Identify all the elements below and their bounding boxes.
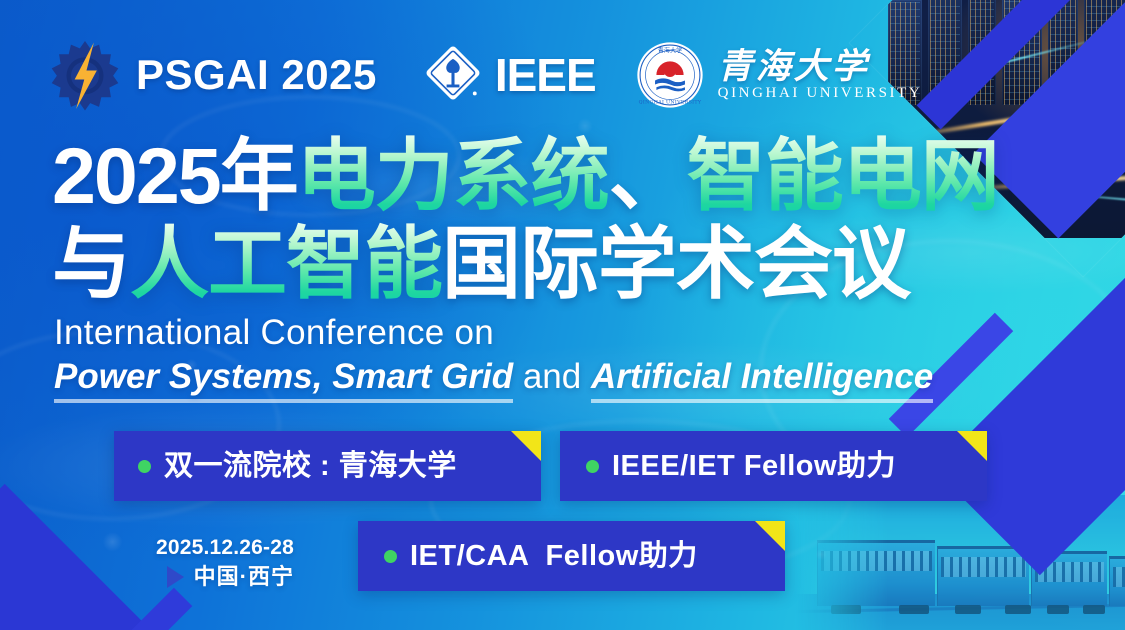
subtitle-line-2: Power Systems, Smart Grid and Artificial… [54, 354, 933, 400]
main-title-cn: 2025年电力系统、智能电网 与人工智能国际学术会议 [52, 132, 999, 308]
event-dates: 2025.12.26-28 [118, 534, 294, 562]
conference-banner: PSGAI 2025 IEEE [0, 0, 1125, 630]
title-seg: 2025年 [52, 131, 297, 220]
title-line-1: 2025年电力系统、智能电网 [52, 132, 999, 220]
bullet-dot-icon [138, 460, 151, 473]
subtitle-artificial-intelligence: Artificial Intelligence [591, 357, 933, 403]
corner-triangle-icon [511, 431, 541, 461]
subtitle-smart-grid: Smart Grid [332, 357, 513, 403]
badge-label: IET/CAA Fellow助力 [410, 542, 698, 571]
badge-label: 双一流院校 : 青海大学 [164, 452, 457, 481]
triangle-marker-icon [167, 566, 184, 588]
gear-lightning-icon [48, 38, 122, 112]
title-seg: 智能电网 [687, 131, 999, 220]
feature-badge-iet-caa-fellow[interactable]: IET/CAA Fellow助力 [358, 521, 785, 591]
corner-triangle-icon [957, 431, 987, 461]
qinghai-university-logo: 青海大学 QINGHAI UNIVERSITY 青海大学 QINGHAI UNI… [636, 41, 923, 109]
bullet-dot-icon [586, 460, 599, 473]
subtitle-and: and [513, 357, 591, 396]
event-date-location: 2025.12.26-28 中国·西宁 [118, 534, 294, 590]
feature-badge-university[interactable]: 双一流院校 : 青海大学 [114, 431, 541, 501]
ieee-logo: IEEE [421, 41, 596, 110]
psgai-logo: PSGAI 2025 [48, 38, 377, 112]
subtitle-en: International Conference on Power System… [54, 312, 933, 400]
title-seg: 电力系统 [297, 131, 609, 220]
title-seg: 国际学术会议 [442, 219, 910, 308]
subtitle-power-systems: Power Systems, [54, 357, 332, 403]
title-line-2: 与人工智能国际学术会议 [52, 220, 999, 308]
qinghai-name-en: QINGHAI UNIVERSITY [718, 86, 923, 101]
title-seg: 与 [52, 219, 130, 308]
svg-text:青海大学: 青海大学 [657, 47, 681, 55]
svg-text:QINGHAI UNIVERSITY: QINGHAI UNIVERSITY [638, 100, 701, 106]
event-location: 中国·西宁 [194, 564, 294, 590]
ieee-diamond-icon [421, 41, 485, 110]
qinghai-name-cn: 青海大学 [718, 49, 923, 84]
subtitle-line-1: International Conference on [54, 312, 933, 354]
title-seg: 、 [609, 131, 687, 220]
psgai-wordmark: PSGAI 2025 [136, 51, 377, 99]
feature-badge-ieee-iet-fellow[interactable]: IEEE/IET Fellow助力 [560, 431, 987, 501]
title-seg: 人工智能 [130, 219, 442, 308]
corner-triangle-icon [755, 521, 785, 551]
ieee-wordmark: IEEE [495, 48, 596, 102]
badge-label: IEEE/IET Fellow助力 [612, 452, 896, 481]
qinghai-university-seal-icon: 青海大学 QINGHAI UNIVERSITY [636, 41, 704, 109]
logo-row: PSGAI 2025 IEEE [48, 38, 922, 112]
bullet-dot-icon [384, 550, 397, 563]
